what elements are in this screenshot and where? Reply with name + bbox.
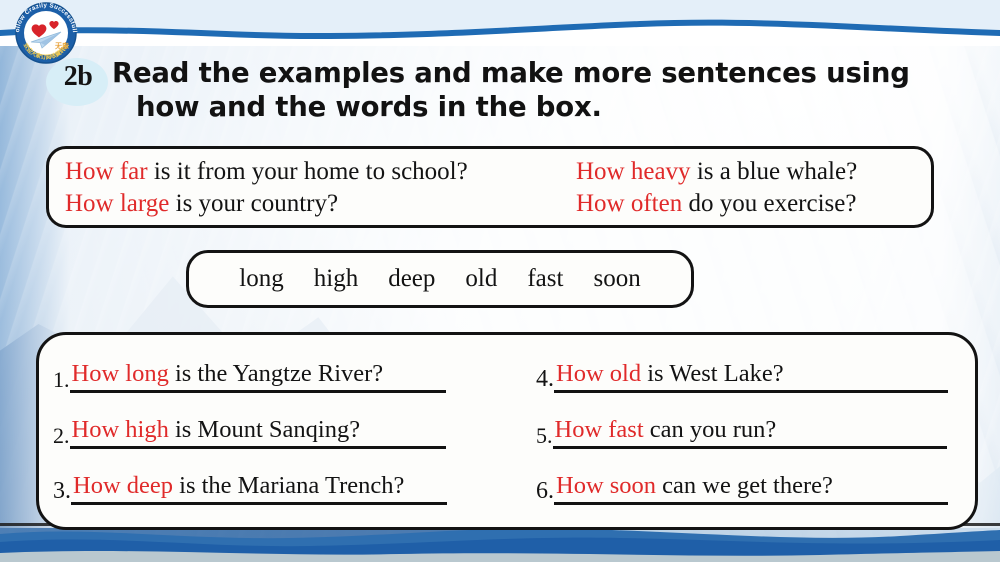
example-1-rest: is it from your home to school? xyxy=(148,158,468,185)
word-bank-row: long high deep old fast soon xyxy=(189,253,691,305)
answer-row-2: 2. How high is Mount Sanqing? xyxy=(53,415,446,449)
page-title: Read the examples and make more sentence… xyxy=(112,56,974,124)
answer-6-keyword: How soon xyxy=(556,472,656,499)
answer-5-rest: can you run? xyxy=(644,416,777,443)
answer-5-number: 5. xyxy=(536,425,553,447)
example-4-keyword: How often xyxy=(576,190,682,217)
answer-5-keyword: How fast xyxy=(555,416,644,443)
example-sentences-box: How far is it from your home to school? … xyxy=(46,146,934,228)
answer-row-6: 6. How soon can we get there? xyxy=(536,471,948,505)
example-sentence-2: How large is your country? xyxy=(65,189,338,219)
answer-4-blank[interactable]: How old is West Lake? xyxy=(554,359,948,393)
answer-1-keyword: How long xyxy=(72,360,169,387)
answer-2-rest: is Mount Sanqing? xyxy=(169,416,360,443)
word-bank-item-fast[interactable]: fast xyxy=(527,265,563,293)
answer-4-number: 4. xyxy=(536,367,554,393)
answer-1-blank[interactable]: How long is the Yangtze River? xyxy=(70,359,446,393)
word-bank-box: long high deep old fast soon xyxy=(186,250,694,308)
answer-row-3: 3. How deep is the Mariana Trench? xyxy=(53,471,447,505)
word-bank-item-long[interactable]: long xyxy=(239,265,283,293)
example-2-keyword: How large xyxy=(65,190,169,217)
answer-1-number: 1. xyxy=(53,369,70,391)
course-logo-badge: Follow Crazily Successfully 欢迎大家订阅收藏转发 无… xyxy=(9,0,83,70)
word-bank-item-old[interactable]: old xyxy=(465,265,497,293)
slide-canvas: Follow Crazily Successfully 欢迎大家订阅收藏转发 无… xyxy=(0,0,1000,562)
answer-3-rest: is the Mariana Trench? xyxy=(173,472,404,499)
example-sentence-3: How heavy is a blue whale? xyxy=(576,157,857,187)
answer-5-blank[interactable]: How fast can you run? xyxy=(553,415,947,449)
answer-4-rest: is West Lake? xyxy=(641,360,784,387)
example-3-rest: is a blue whale? xyxy=(691,158,858,185)
answer-row-1: 1. How long is the Yangtze River? xyxy=(53,359,446,393)
example-2-rest: is your country? xyxy=(169,190,338,217)
answer-2-blank[interactable]: How high is Mount Sanqing? xyxy=(70,415,446,449)
answer-row-4: 4. How old is West Lake? xyxy=(536,359,948,393)
answers-box: 1. How long is the Yangtze River? 2. How… xyxy=(36,332,978,530)
svg-text:无忠: 无忠 xyxy=(54,41,69,50)
answer-3-keyword: How deep xyxy=(73,472,173,499)
answer-6-number: 6. xyxy=(536,479,554,505)
word-bank-item-deep[interactable]: deep xyxy=(388,265,435,293)
word-bank-item-soon[interactable]: soon xyxy=(593,265,640,293)
example-3-keyword: How heavy xyxy=(576,158,691,185)
title-line-1: Read the examples and make more sentence… xyxy=(112,57,910,89)
example-1-keyword: How far xyxy=(65,158,148,185)
answer-row-5: 5. How fast can you run? xyxy=(536,415,947,449)
answer-2-keyword: How high xyxy=(72,416,169,443)
answer-4-keyword: How old xyxy=(556,360,641,387)
example-sentence-1: How far is it from your home to school? xyxy=(65,157,468,187)
top-wave-divider xyxy=(0,0,1000,46)
example-4-rest: do you exercise? xyxy=(682,190,856,217)
example-sentence-4: How often do you exercise? xyxy=(576,189,856,219)
answer-3-blank[interactable]: How deep is the Mariana Trench? xyxy=(71,471,447,505)
answer-1-rest: is the Yangtze River? xyxy=(169,360,383,387)
answer-2-number: 2. xyxy=(53,425,70,447)
answer-6-blank[interactable]: How soon can we get there? xyxy=(554,471,948,505)
answer-3-number: 3. xyxy=(53,479,71,505)
word-bank-item-high[interactable]: high xyxy=(314,265,358,293)
title-line-2: how and the words in the box. xyxy=(136,90,974,124)
answer-6-rest: can we get there? xyxy=(656,472,833,499)
